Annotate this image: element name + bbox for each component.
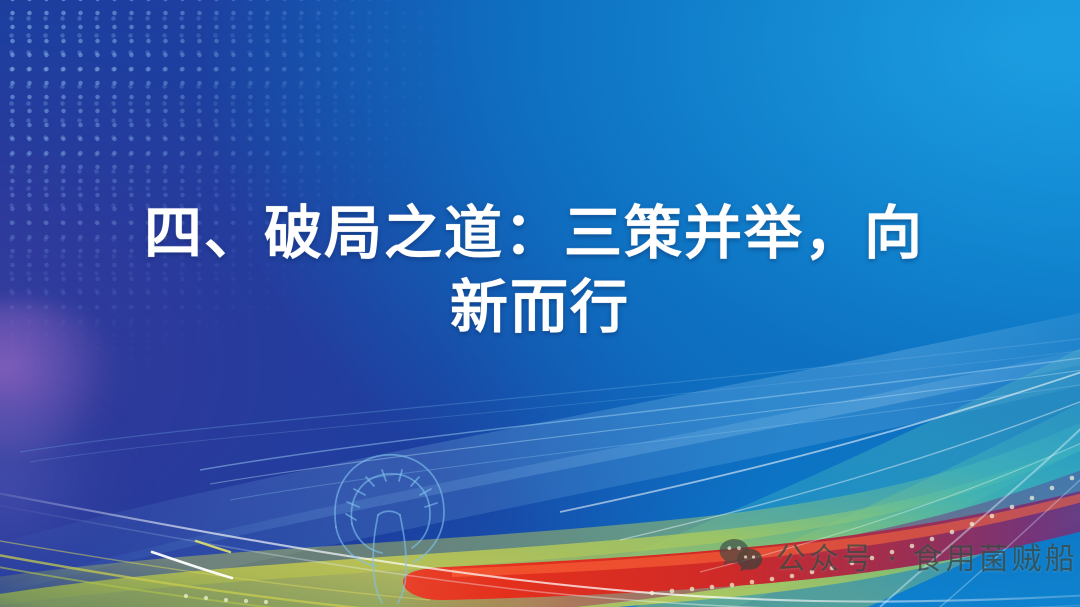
light-arc-3 (230, 376, 1080, 500)
diagonal-edge-1 (880, 420, 1080, 607)
sheen-stroke-1 (20, 332, 1080, 452)
white-dash-accent (152, 552, 232, 578)
halftone-dot-grid-secondary (0, 10, 546, 440)
slide-canvas: 四、破局之道：三策并举，向 新而行 公众号 · 食用菌贼船 (0, 0, 1080, 607)
yellow-arc-line-2 (0, 560, 400, 607)
green-yellow-ribbon (0, 418, 1080, 607)
halftone-dot-grid (0, 0, 610, 444)
light-arc-2 (210, 362, 1080, 484)
magenta-band (380, 448, 1080, 607)
light-arc-5 (620, 378, 1080, 540)
title-line-2: 新而行 (70, 270, 1010, 344)
mushroom-outline-icon (335, 455, 444, 603)
watermark: 公众号 · 食用菌贼船 (718, 534, 1078, 578)
top-right-glow (0, 0, 1080, 607)
sheen-stroke-2 (30, 344, 1080, 462)
wechat-logo-icon (718, 537, 764, 575)
slide-title: 四、破局之道：三策并举，向 新而行 (0, 196, 1080, 344)
light-arc-1 (200, 350, 1080, 470)
title-line-1: 四、破局之道：三策并举，向 (64, 196, 1004, 270)
yellow-dash-accent (196, 541, 230, 552)
purple-glow-blob (0, 302, 124, 452)
light-arc-4 (560, 352, 1080, 512)
decorative-artwork (0, 0, 1080, 607)
yellow-arc-line-1 (0, 548, 400, 607)
watermark-text: 公众号 · 食用菌贼船 (776, 534, 1078, 578)
yellow-arc-line-3 (0, 534, 430, 600)
purple-glow-blob-secondary (0, 402, 130, 572)
